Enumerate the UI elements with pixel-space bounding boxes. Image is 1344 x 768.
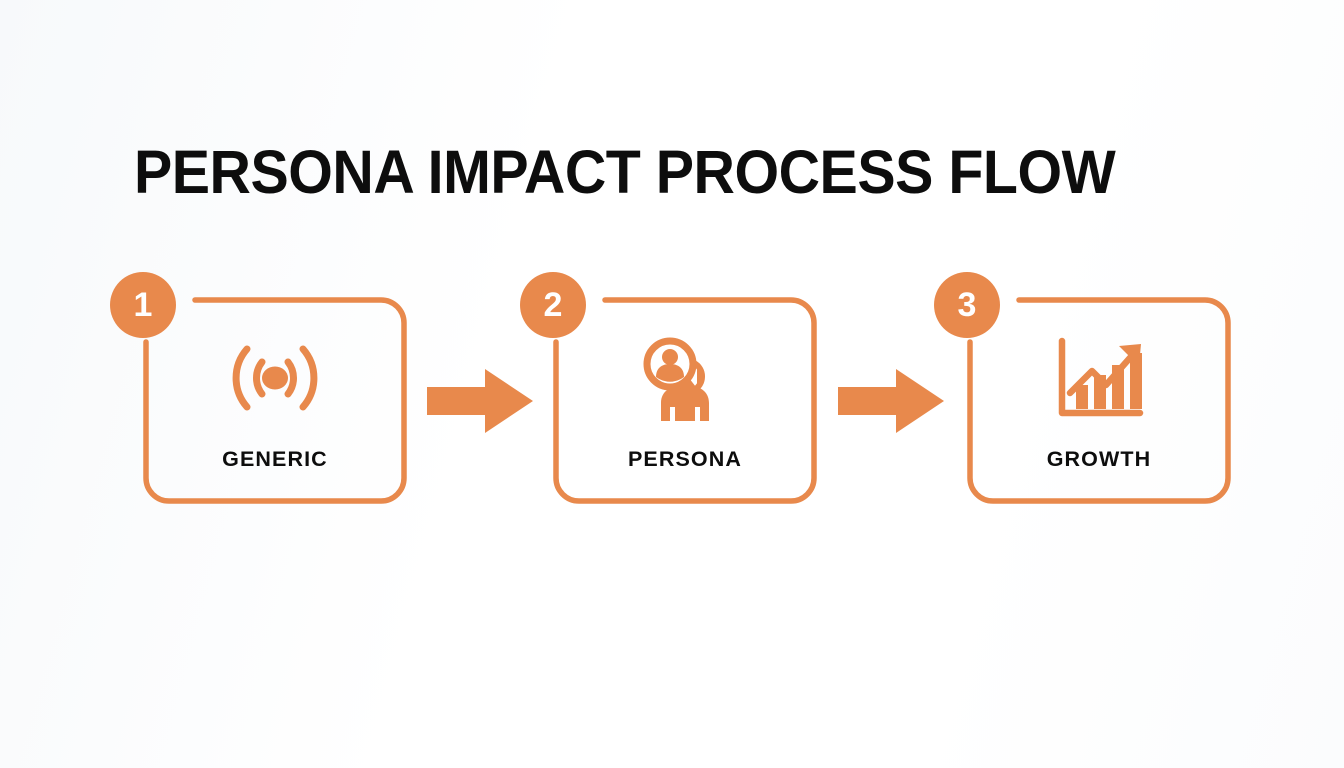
broadcast-signal-icon bbox=[216, 335, 334, 421]
bar-chart-growth-icon bbox=[1040, 335, 1158, 421]
step-card-body-1: GENERIC bbox=[143, 297, 407, 504]
slide-canvas: PERSONA IMPACT PROCESS FLOW 1 GENERI bbox=[0, 0, 1344, 768]
process-flow-diagram: 1 GENERIC bbox=[0, 288, 1344, 520]
step-card-body-2: PERSONA bbox=[553, 297, 817, 504]
flow-arrow-1 bbox=[427, 369, 533, 433]
flow-step-3[interactable]: 3 GROWTH bbox=[967, 297, 1231, 504]
flow-step-1[interactable]: 1 GENERIC bbox=[143, 297, 407, 504]
step-label-1: GENERIC bbox=[222, 447, 328, 472]
step-card-body-3: GROWTH bbox=[967, 297, 1231, 504]
step-label-3: GROWTH bbox=[1047, 447, 1152, 472]
flow-step-2[interactable]: 2 PERSONA bbox=[553, 297, 817, 504]
step-label-2: PERSONA bbox=[628, 447, 742, 472]
step-number-badge-3: 3 bbox=[934, 272, 1000, 338]
step-number-badge-2: 2 bbox=[520, 272, 586, 338]
person-magnifier-icon bbox=[626, 335, 744, 421]
flow-arrow-2 bbox=[838, 369, 944, 433]
page-title: PERSONA IMPACT PROCESS FLOW bbox=[134, 142, 1115, 203]
step-number-badge-1: 1 bbox=[110, 272, 176, 338]
